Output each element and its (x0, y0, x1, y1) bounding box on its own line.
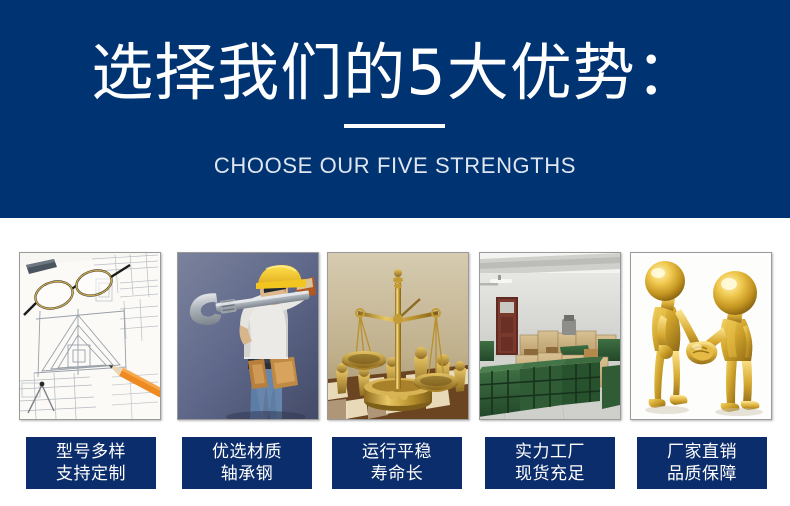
strength-label-line2: 支持定制 (56, 463, 126, 485)
page-subtitle: CHOOSE OUR FIVE STRENGTHS (0, 152, 790, 180)
strength-label: 厂家直销 品质保障 (637, 437, 767, 489)
strength-label-line1: 运行平稳 (362, 441, 432, 463)
strength-label-line1: 优选材质 (212, 441, 282, 463)
strength-card: 实力工厂 现货充足 (479, 218, 621, 506)
strength-card-row: 型号多样 支持定制 (0, 218, 790, 506)
photo-frame (19, 252, 161, 420)
promo-banner-page: 选择我们的5大优势： CHOOSE OUR FIVE STRENGTHS (0, 0, 790, 506)
brass-balance-scale-photo (328, 253, 468, 419)
strength-label-line1: 实力工厂 (515, 441, 585, 463)
strength-label-line2: 品质保障 (667, 463, 737, 485)
gold-figures-handshake-photo (631, 253, 771, 419)
strength-card: 型号多样 支持定制 (19, 218, 161, 506)
header-banner: 选择我们的5大优势： CHOOSE OUR FIVE STRENGTHS (0, 0, 790, 218)
blueprint-glasses-pencil-photo (20, 253, 160, 419)
page-title: 选择我们的5大优势： (0, 36, 790, 110)
warehouse-stock-photo (480, 253, 620, 419)
strength-label: 实力工厂 现货充足 (485, 437, 615, 489)
strength-label-line2: 寿命长 (371, 463, 424, 485)
strength-label-line2: 现货充足 (515, 463, 585, 485)
photo-frame (479, 252, 621, 420)
strength-label-line2: 轴承钢 (221, 463, 274, 485)
photo-frame (177, 252, 319, 420)
strength-label: 优选材质 轴承钢 (182, 437, 312, 489)
strength-label-line1: 厂家直销 (667, 441, 737, 463)
photo-frame (630, 252, 772, 420)
strength-label: 型号多样 支持定制 (26, 437, 156, 489)
strength-card: 厂家直销 品质保障 (630, 218, 772, 506)
strength-card: 优选材质 轴承钢 (177, 218, 319, 506)
title-divider (344, 124, 445, 128)
strength-label: 运行平稳 寿命长 (332, 437, 462, 489)
worker-with-wrench-photo (178, 253, 318, 419)
strength-card: 运行平稳 寿命长 (327, 218, 469, 506)
photo-frame (327, 252, 469, 420)
strength-label-line1: 型号多样 (56, 441, 126, 463)
